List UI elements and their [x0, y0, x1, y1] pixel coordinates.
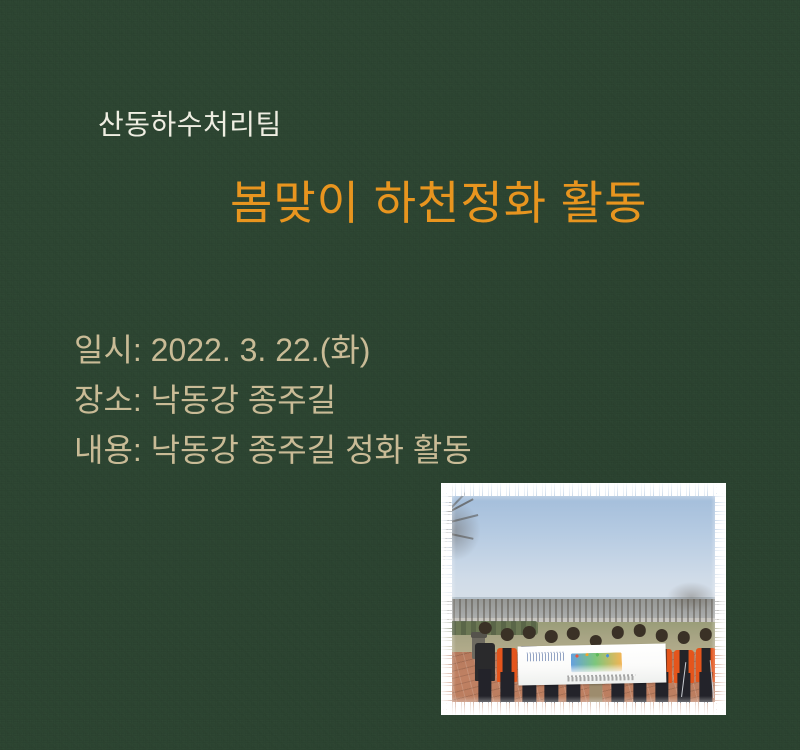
event-details-block: 일시: 2022. 3. 22.(화) 장소: 낙동강 종주길 내용: 낙동강 … — [74, 325, 472, 475]
presentation-slide: 산동하수처리팀 봄맞이 하천정화 활동 일시: 2022. 3. 22.(화) … — [0, 0, 800, 750]
slide-title: 봄맞이 하천정화 활동 — [230, 176, 647, 231]
banner-logo-icon — [527, 652, 566, 661]
detail-content: 내용: 낙동강 종주길 정화 활동 — [74, 425, 472, 475]
group-photo-image — [441, 483, 726, 715]
team-name-label: 산동하수처리팀 — [98, 107, 282, 142]
bare-tree-icon — [441, 485, 498, 587]
banner-subtext — [567, 674, 635, 681]
event-banner — [518, 644, 667, 687]
detail-date: 일시: 2022. 3. 22.(화) — [74, 325, 472, 375]
person — [497, 628, 517, 703]
detail-location: 장소: 낙동강 종주길 — [74, 375, 472, 425]
photo-frame — [441, 483, 726, 715]
banner-plus-wordmark — [571, 653, 622, 673]
person — [475, 622, 495, 703]
